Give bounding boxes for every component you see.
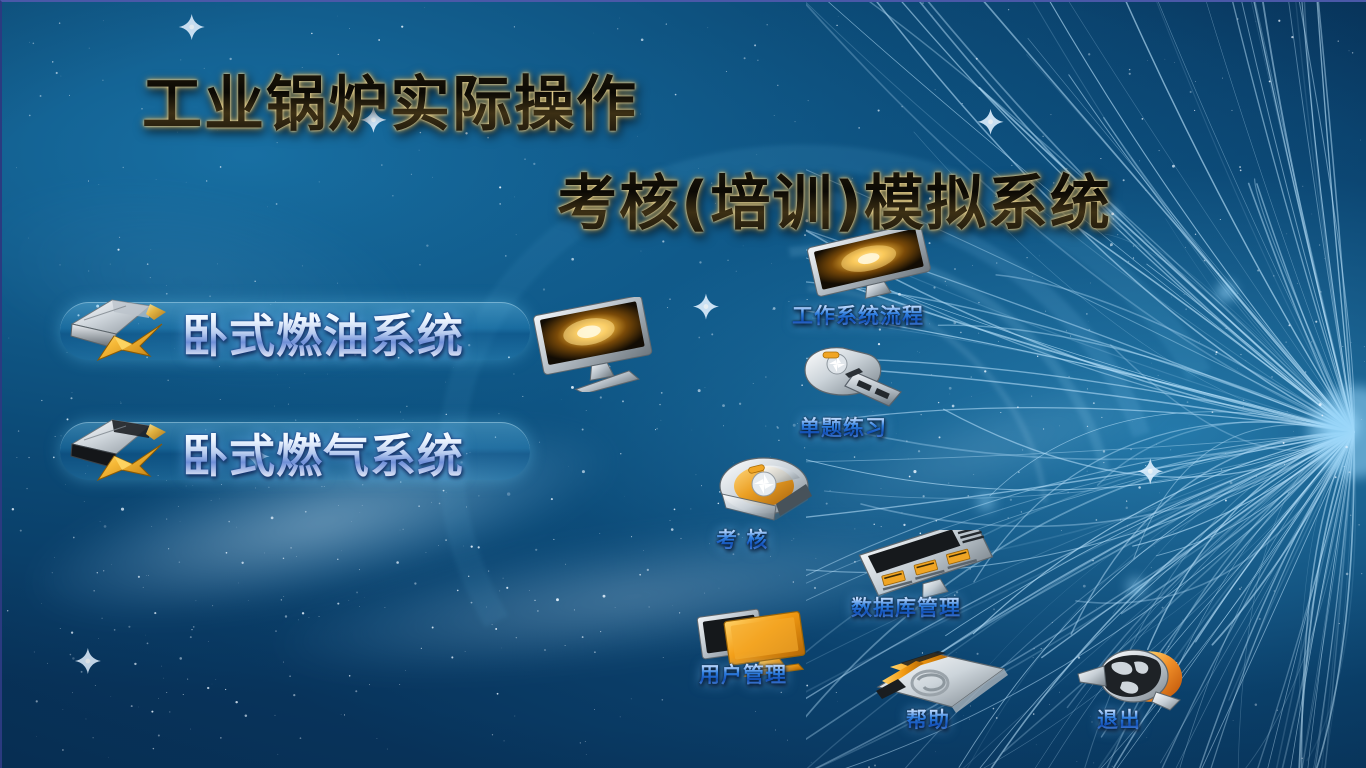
menu-item-label: 考 核: [716, 524, 768, 554]
button-label: 卧式燃油系统: [182, 300, 464, 366]
menu-item-label: 单题练习: [799, 412, 887, 442]
book-star-icon: [54, 404, 186, 490]
button-horizontal-oil-system[interactable]: 卧式燃油系统: [60, 302, 530, 360]
button-horizontal-gas-system[interactable]: 卧式燃气系统: [60, 422, 530, 480]
menu-item-label: 数据库管理: [851, 592, 961, 622]
menu-item-label: 用户管理: [699, 659, 787, 689]
application-window: 工业锅炉实际操作 考核(培训)模拟系统: [0, 0, 1366, 768]
menu-item-label: 工作系统流程: [792, 300, 924, 330]
usb-drive-icon: [797, 340, 922, 420]
monitor-nebula-icon[interactable]: [527, 297, 662, 392]
menu-item-label: 帮助: [906, 704, 950, 734]
monitor-icon: [802, 230, 942, 302]
disk-drive-icon: [712, 450, 822, 532]
book-star-icon: [54, 284, 186, 370]
button-label: 卧式燃气系统: [182, 420, 464, 486]
menu-item-label: 退出: [1097, 704, 1141, 734]
